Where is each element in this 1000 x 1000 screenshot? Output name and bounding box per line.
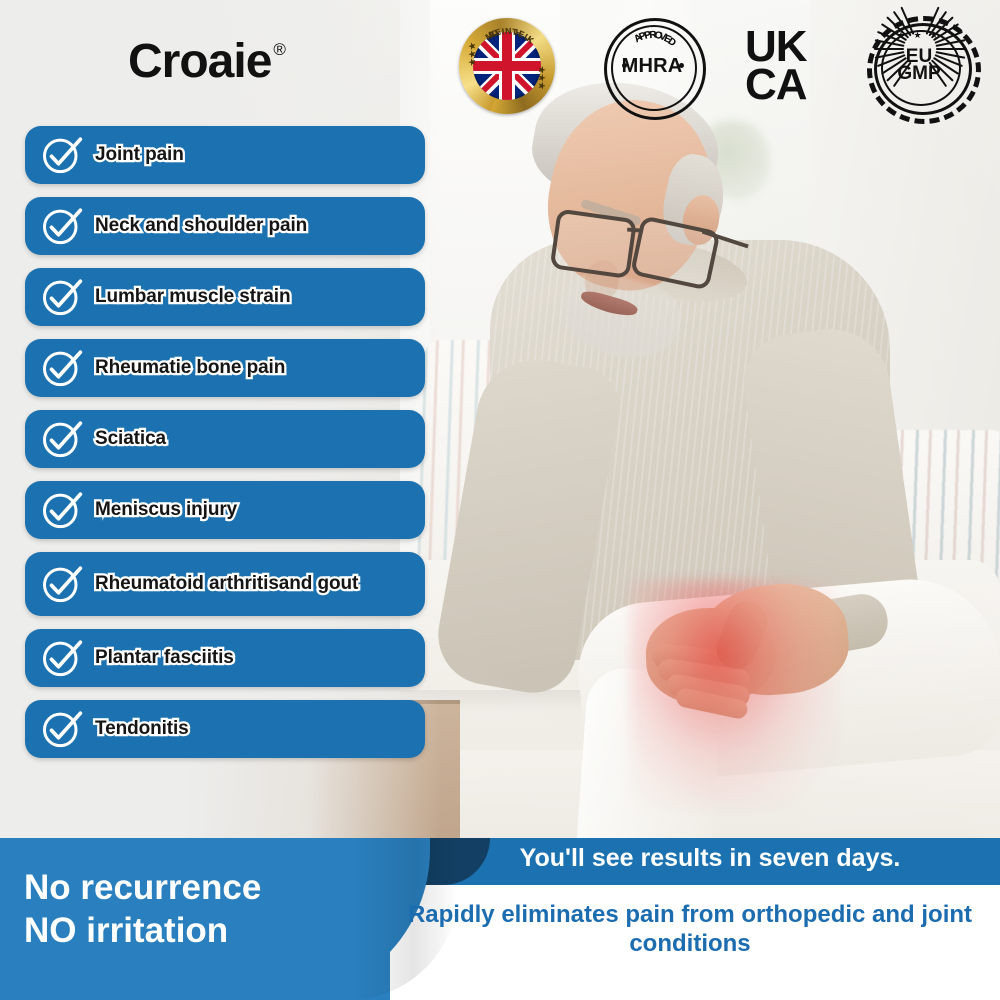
condition-pill[interactable]: Meniscus injury [25,481,425,539]
condition-pill[interactable]: Sciatica [25,410,425,468]
dot-left [622,63,627,68]
no-recurrence-text: No recurrence NO irritation [24,866,364,953]
banner-subline: Rapidly eliminates pain from orthopedic … [390,900,990,959]
banner-left-line2: NO irritation [24,909,364,952]
condition-pill[interactable]: Neck and shoulder pain [25,197,425,255]
condition-label: Lumbar muscle strain [95,287,290,307]
ukca-line2: CA [745,66,807,104]
condition-pill[interactable]: Rheumatoid arthritisand gout [25,552,425,616]
condition-pill[interactable]: Plantar fasciitis [25,629,425,687]
eu-gmp-badge-icon: ★ ★ ★ EU GMP [865,16,975,116]
check-circle-icon [41,489,83,531]
condition-label: Meniscus injury [95,500,237,520]
gmp-label: EU GMP [867,16,971,114]
condition-label: Tendonitis [95,719,189,739]
check-circle-icon [41,637,83,679]
condition-label: Plantar fasciitis [95,648,234,668]
check-circle-icon [41,708,83,750]
check-circle-icon [41,347,83,389]
brand-name: Croaie [128,38,271,86]
condition-pill[interactable]: Joint pain [25,126,425,184]
condition-pill[interactable]: Rheumatie bone pain [25,339,425,397]
dot-right [679,63,684,68]
made-in-uk-badge-icon: MADE IN THE UKMADE IN THE UK★★★★★★ [455,16,563,116]
condition-label: Neck and shoulder pain [95,216,307,236]
banner-left-line1: No recurrence [24,866,364,909]
check-circle-icon [41,134,83,176]
gmp-line2: GMP [897,65,940,82]
condition-label: Rheumatoid arthritisand gout [95,574,358,594]
bottom-banner: No recurrence NO irritation You'll see r… [0,838,1000,1000]
condition-label: Joint pain [95,145,184,165]
brand-logo: Croaie ® [128,38,286,86]
condition-list: Joint painNeck and shoulder painLumbar m… [25,126,425,771]
check-circle-icon [41,276,83,318]
mhra-approved-badge-icon: APPROVEDAPPROVED MHRA [600,16,708,116]
check-circle-icon [41,205,83,247]
ukca-mark-icon: UK CA [745,16,845,116]
mhra-label: MHRA [604,18,700,114]
advertisement-root: Croaie ® MADE IN THE UKMADE IN THE UK★★★… [0,0,1000,1000]
condition-label: Sciatica [95,429,166,449]
banner-headline: You'll see results in seven days. [430,844,990,873]
check-circle-icon [41,418,83,460]
check-circle-icon [41,563,83,605]
condition-pill[interactable]: Lumbar muscle strain [25,268,425,326]
condition-pill[interactable]: Tendonitis [25,700,425,758]
made-in-uk-arc-text: MADE IN THE UKMADE IN THE UK★★★★★★ [459,18,555,114]
certification-badges: MADE IN THE UKMADE IN THE UK★★★★★★ APPRO… [455,16,985,116]
trademark-symbol: ® [273,41,286,58]
condition-label: Rheumatie bone pain [95,358,285,378]
